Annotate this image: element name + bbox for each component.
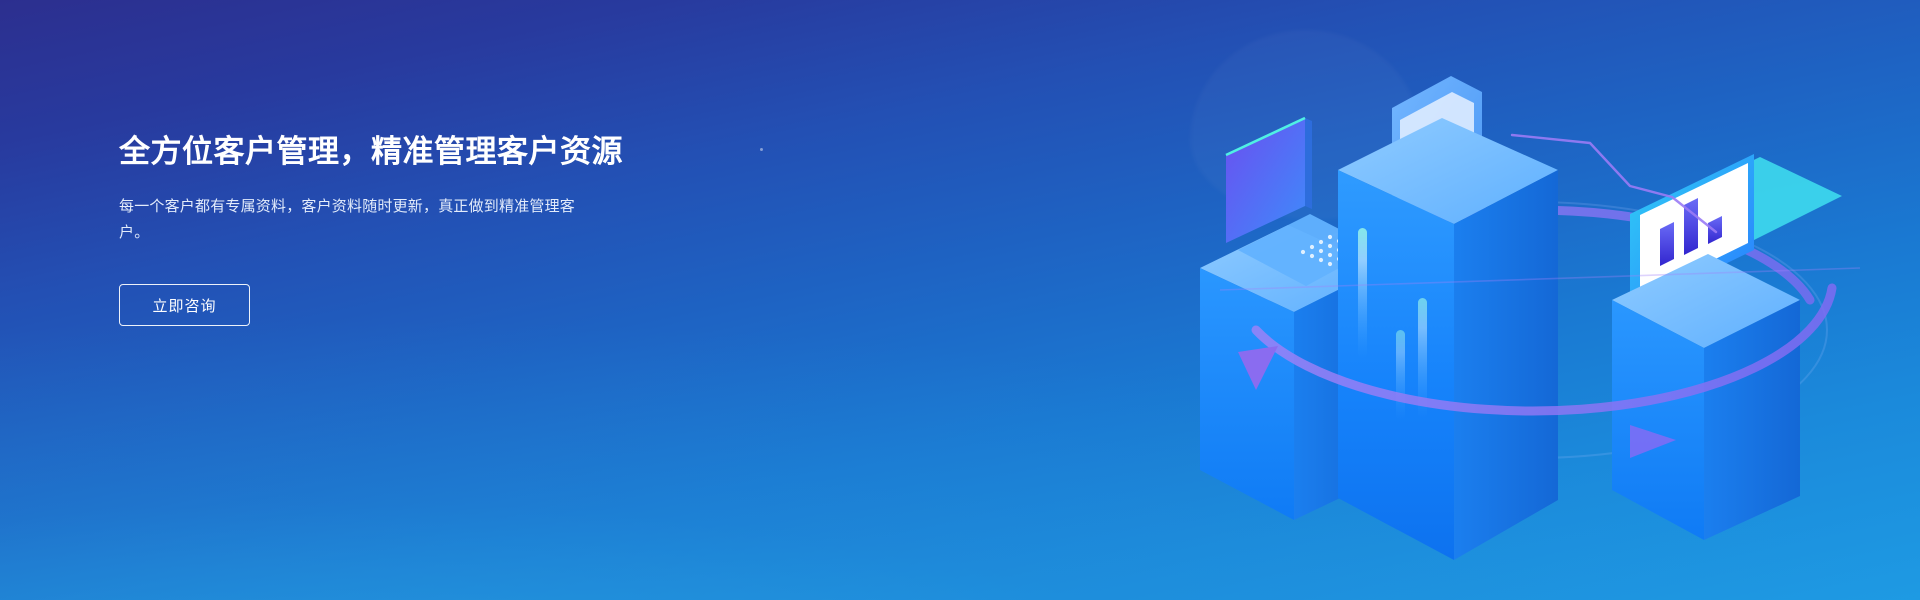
isometric-illustration-svg — [1160, 0, 1920, 600]
hero-illustration — [1160, 0, 1920, 600]
hero-copy-block: 全方位客户管理，精准管理客户资源 每一个客户都有专属资料，客户资料随时更新，真正… — [119, 133, 759, 326]
page-title: 全方位客户管理，精准管理客户资源 — [119, 133, 759, 172]
center-pillar-group — [1338, 76, 1558, 560]
hero-subtitle: 每一个客户都有专属资料，客户资料随时更新，真正做到精准管理客户。 — [119, 194, 599, 247]
hero-banner: 全方位客户管理，精准管理客户资源 每一个客户都有专属资料，客户资料随时更新，真正… — [0, 0, 1920, 600]
decorative-spark-dot — [760, 148, 763, 151]
chart-bar-2 — [1684, 198, 1698, 255]
right-pillar-group — [1612, 154, 1842, 540]
chart-bar-1 — [1660, 222, 1674, 266]
consult-now-button[interactable]: 立即咨询 — [119, 284, 250, 326]
